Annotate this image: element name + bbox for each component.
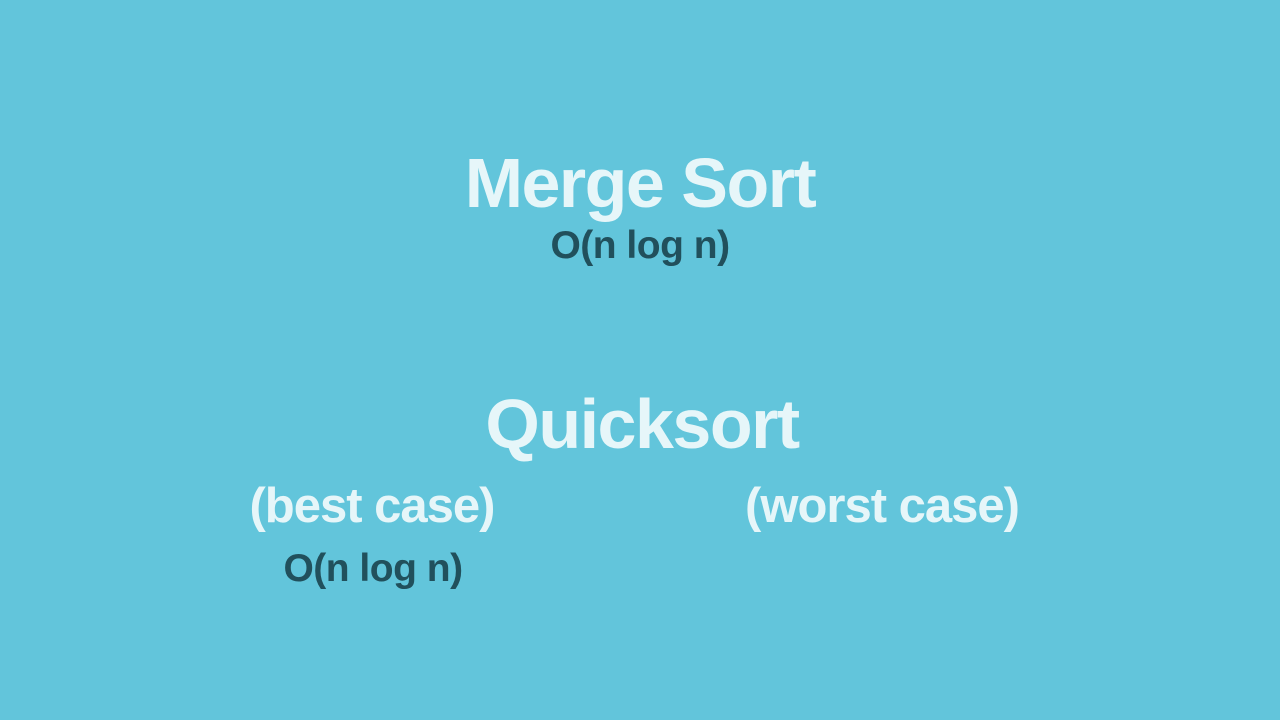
merge-sort-complexity: O(n log n) [550,226,729,265]
quicksort-best-case-label: (best case) [249,482,494,531]
quicksort-heading: Quicksort [485,389,798,459]
merge-sort-heading: Merge Sort [465,148,816,218]
quicksort-best-case-complexity: O(n log n) [283,549,462,588]
quicksort-worst-case-label: (worst case) [745,482,1019,531]
slide-canvas: Merge Sort O(n log n) Quicksort (best ca… [0,0,1280,720]
